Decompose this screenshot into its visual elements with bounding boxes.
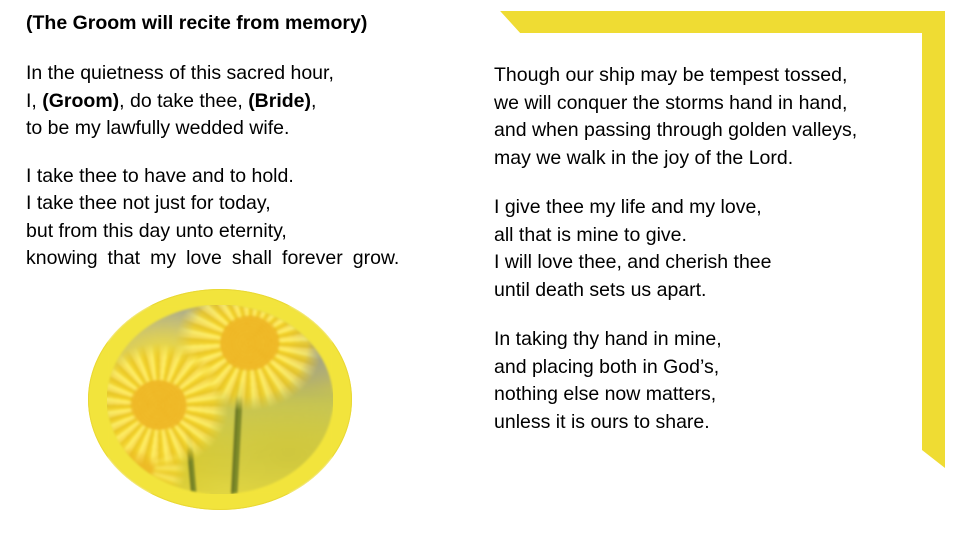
slide-canvas: (The Groom will recite from memory) In t… <box>0 0 960 540</box>
vow-line: I will love thee, and cherish thee <box>494 249 924 277</box>
spacer <box>494 304 924 326</box>
vow-line-text: to be my lawfully wedded wife. <box>26 117 289 139</box>
vow-line-text: nothing else now matters, <box>494 383 716 405</box>
vow-line-emphasis: (Groom) <box>42 90 119 112</box>
vow-line-text: unless it is ours to share. <box>494 411 710 433</box>
yellow-daisy-flowers-photo <box>107 305 333 494</box>
vow-line: I, (Groom), do take thee, (Bride), <box>26 88 474 116</box>
vow-line: nothing else now matters, <box>494 381 924 409</box>
vow-line-text: , do take thee, <box>119 90 248 112</box>
left-text-column: (The Groom will recite from memory) In t… <box>26 8 474 273</box>
vow-line-text: but from this day unto eternity, <box>26 220 287 242</box>
vow-line: knowing that my love shall forever grow. <box>26 245 474 273</box>
stanza-vow-5: In taking thy hand in mine,and placing b… <box>494 326 924 436</box>
vow-line-text: , <box>311 90 316 112</box>
vow-line-text: I will love thee, and cherish thee <box>494 251 772 273</box>
right-text-column: Though our ship may be tempest tossed,we… <box>494 62 924 436</box>
bracket-left-notch <box>500 11 520 33</box>
vow-line: we will conquer the storms hand in hand, <box>494 90 924 118</box>
bracket-bottom-notch <box>922 450 945 468</box>
vow-line: In the quietness of this sacred hour, <box>26 60 474 88</box>
vow-line-text: and placing both in God’s, <box>494 356 719 378</box>
stanza-vow-1: In the quietness of this sacred hour,I, … <box>26 60 474 143</box>
vow-line-emphasis: (Bride) <box>248 90 311 112</box>
vow-line-text: we will conquer the storms hand in hand, <box>494 92 847 114</box>
spacer <box>26 38 474 60</box>
stanza-vow-2: I take thee to have and to hold.I take t… <box>26 163 474 273</box>
vow-line: I take thee to have and to hold. <box>26 163 474 191</box>
vow-line: but from this day unto eternity, <box>26 218 474 246</box>
vow-line-text: In taking thy hand in mine, <box>494 328 722 350</box>
vow-line: I take thee not just for today, <box>26 190 474 218</box>
vow-line: Though our ship may be tempest tossed, <box>494 62 924 90</box>
spacer <box>494 172 924 194</box>
vow-line: In taking thy hand in mine, <box>494 326 924 354</box>
stanza-vow-4: I give thee my life and my love,all that… <box>494 194 924 304</box>
stage-direction: (The Groom will recite from memory) <box>26 8 474 38</box>
photo-softening-overlay <box>107 305 333 494</box>
vow-line-text: I take thee not just for today, <box>26 192 271 214</box>
vow-line: until death sets us apart. <box>494 277 924 305</box>
vow-line: I give thee my life and my love, <box>494 194 924 222</box>
vow-line-text: Though our ship may be tempest tossed, <box>494 64 847 86</box>
vow-line: all that is mine to give. <box>494 222 924 250</box>
vow-line-text: knowing that my love shall forever grow. <box>26 247 399 269</box>
flower-image-frame <box>88 289 352 510</box>
vow-line: and placing both in God’s, <box>494 354 924 382</box>
vow-line: to be my lawfully wedded wife. <box>26 115 474 143</box>
vow-line: unless it is ours to share. <box>494 409 924 437</box>
vow-line-text: and when passing through golden valleys, <box>494 119 857 141</box>
stanza-vow-3: Though our ship may be tempest tossed,we… <box>494 62 924 172</box>
vow-line-text: may we walk in the joy of the Lord. <box>494 147 793 169</box>
vow-line-text: I give thee my life and my love, <box>494 196 762 218</box>
vow-line-text: I take thee to have and to hold. <box>26 165 294 187</box>
spacer <box>26 143 474 163</box>
vow-line-text: all that is mine to give. <box>494 224 687 246</box>
vow-line: and when passing through golden valleys, <box>494 117 924 145</box>
vow-line-text: I, <box>26 90 42 112</box>
vow-line: may we walk in the joy of the Lord. <box>494 145 924 173</box>
vow-line-text: In the quietness of this sacred hour, <box>26 62 334 84</box>
vow-line-text: until death sets us apart. <box>494 279 706 301</box>
